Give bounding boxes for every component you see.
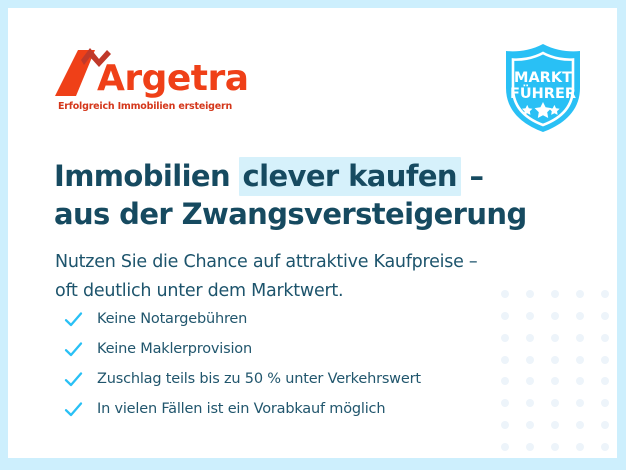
decor-dot	[576, 399, 584, 407]
decor-dot	[501, 443, 509, 451]
page-headline: Immobilien clever kaufen – aus der Zwang…	[54, 157, 594, 233]
decor-dot	[576, 312, 584, 320]
decor-dot	[526, 443, 534, 451]
decor-dot	[551, 334, 559, 342]
shield-badge-icon: MARKT FÜHRER	[500, 42, 586, 134]
decor-dot	[576, 334, 584, 342]
headline-line-1: Immobilien clever kaufen –	[54, 157, 594, 195]
headline-line-2: aus der Zwangsversteigerung	[54, 195, 594, 233]
headline-line1-post: –	[460, 159, 483, 193]
decor-dot	[601, 312, 609, 320]
check-icon	[64, 310, 83, 329]
benefit-label: Keine Maklerprovision	[97, 341, 252, 357]
poster-frame: Argetra Erfolgreich Immobilien ersteiger…	[0, 0, 626, 470]
brand-logo[interactable]: Argetra Erfolgreich Immobilien ersteiger…	[55, 46, 315, 112]
headline-highlight: clever kaufen	[239, 157, 461, 196]
page-subheadline: Nutzen Sie die Chance auf attraktive Kau…	[55, 248, 595, 306]
decor-dot	[601, 334, 609, 342]
decor-dot	[551, 399, 559, 407]
decor-dot	[601, 290, 609, 298]
badge-line1: MARKT	[514, 70, 572, 86]
list-item: Zuschlag teils bis zu 50 % unter Verkehr…	[64, 364, 544, 394]
decor-dot	[601, 399, 609, 407]
decor-dot	[551, 443, 559, 451]
subheadline-line-1: Nutzen Sie die Chance auf attraktive Kau…	[55, 248, 595, 277]
list-item: Keine Notargebühren	[64, 304, 544, 334]
decor-dot	[576, 377, 584, 385]
decor-dot	[551, 312, 559, 320]
benefits-list: Keine Notargebühren Keine Maklerprovisio…	[64, 304, 544, 424]
check-icon	[64, 370, 83, 389]
decor-dot	[551, 421, 559, 429]
logo-wordmark: Argetra	[97, 61, 249, 97]
logo-row: Argetra	[55, 46, 315, 98]
decor-dot	[576, 356, 584, 364]
list-item: Keine Maklerprovision	[64, 334, 544, 364]
subheadline-line-2: oft deutlich unter dem Marktwert.	[55, 277, 595, 306]
decor-dot	[601, 377, 609, 385]
decor-dot	[551, 356, 559, 364]
benefit-label: In vielen Fällen ist ein Vorabkauf mögli…	[97, 401, 385, 417]
poster-canvas: Argetra Erfolgreich Immobilien ersteiger…	[8, 8, 617, 458]
headline-line1-pre: Immobilien	[54, 159, 240, 193]
badge-line2: FÜHRER	[510, 84, 576, 102]
decor-dot	[576, 421, 584, 429]
benefit-label: Keine Notargebühren	[97, 311, 247, 327]
decor-dot	[601, 356, 609, 364]
decor-dot	[601, 443, 609, 451]
benefit-label: Zuschlag teils bis zu 50 % unter Verkehr…	[97, 371, 421, 387]
check-icon	[64, 400, 83, 419]
logo-tagline: Erfolgreich Immobilien ersteigern	[58, 101, 315, 112]
decor-dot	[601, 421, 609, 429]
check-icon	[64, 340, 83, 359]
decor-dot	[551, 377, 559, 385]
decor-dot	[576, 443, 584, 451]
list-item: In vielen Fällen ist ein Vorabkauf mögli…	[64, 394, 544, 424]
